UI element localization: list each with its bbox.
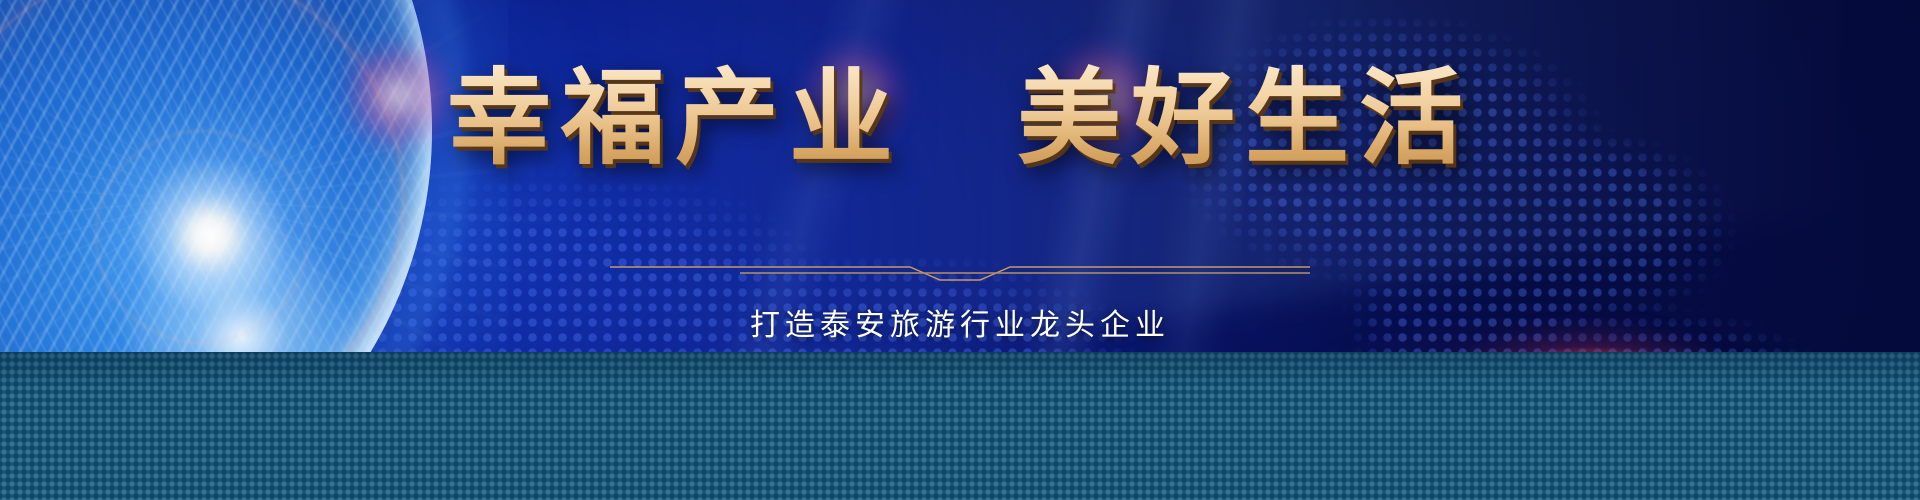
banner-title: 幸福产业 美好生活 [0, 62, 1920, 176]
footer-bar [0, 352, 1920, 500]
banner-subtitle: 打造泰安旅游行业龙头企业 [0, 300, 1920, 344]
footer-bar-shade [0, 352, 1920, 500]
hero-banner: 幸福产业 美好生活 打造泰安旅游行业龙头企业 [0, 0, 1920, 500]
divider-v-notch-ornament [610, 258, 1310, 284]
